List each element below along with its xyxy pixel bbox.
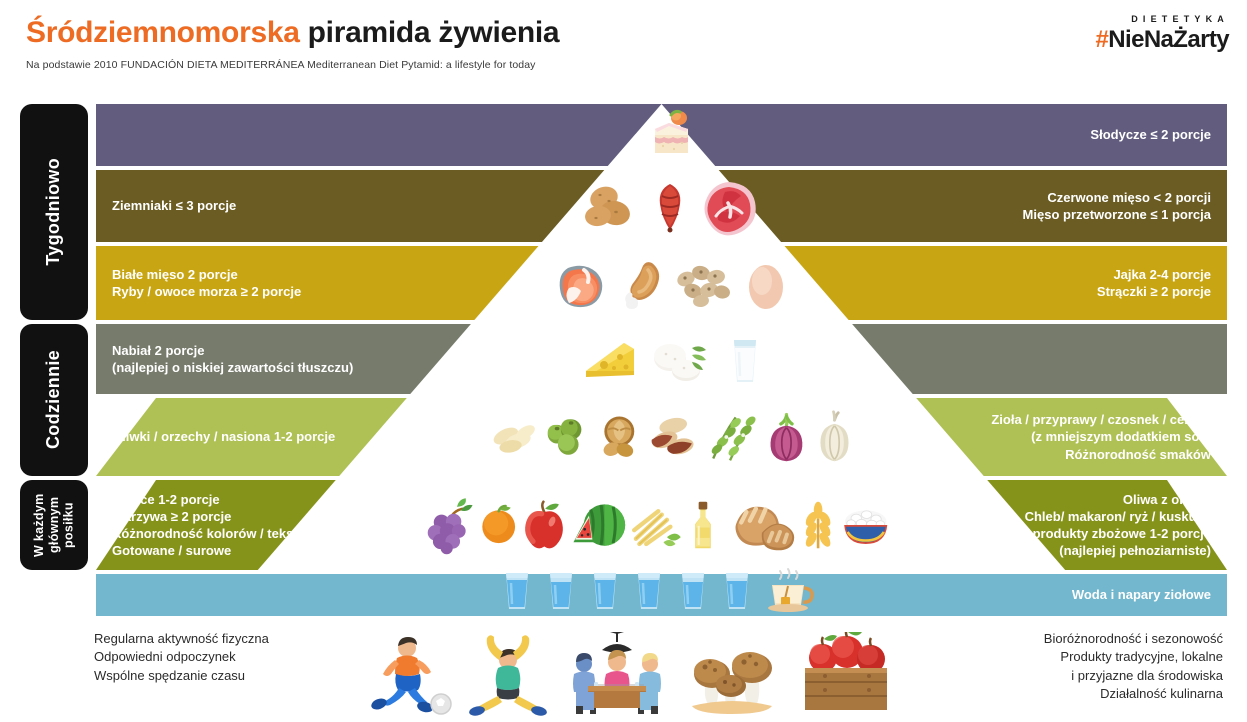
- band-right-text: Woda i napary ziołowe: [1072, 586, 1211, 603]
- pyramid-band-dairy: Nabiał 2 porcje (najlepiej o niskiej zaw…: [96, 324, 1227, 394]
- band-right-text: Słodycze ≤ 2 porcje: [1090, 126, 1211, 143]
- band-left-text: Nabiał 2 porcje (najlepiej o niskiej zaw…: [112, 342, 353, 376]
- footer-right-text: Bioróżnorodność i sezonowość Produkty tr…: [1044, 630, 1223, 704]
- band-left-text: Ziemniaki ≤ 3 porcje: [112, 197, 236, 214]
- footer-left-text: Regularna aktywność fizyczna Odpowiedni …: [94, 630, 269, 685]
- mushrooms-icon: [686, 636, 778, 716]
- frequency-label-every-meal: W każdym głównym posiłku: [20, 480, 88, 570]
- frequency-label-text: Codziennie: [43, 350, 64, 449]
- lifestyle-icons: [360, 624, 900, 716]
- band-right-text: Zioła / przyprawy / czosnek / cebula (z …: [991, 411, 1211, 462]
- soccer-player-icon: [367, 634, 453, 716]
- pyramid-band-red-meat: Ziemniaki ≤ 3 porcje Czerwone mięso < 2 …: [96, 170, 1227, 242]
- stretching-person-icon: [468, 634, 548, 716]
- frequency-label-text: W każdym głównym posiłku: [32, 480, 76, 570]
- logo-word: NieNaŻarty: [1108, 26, 1229, 53]
- band-right-text: Oliwa z oliwek Chleb/ makaron/ ryż / kus…: [1002, 491, 1211, 560]
- logo-main-text: #NieNaŻarty: [1096, 26, 1229, 54]
- pyramid-band-white-meat: Białe mięso 2 porcje Ryby / owoce morza …: [96, 246, 1227, 320]
- page-subtitle: Na podstawie 2010 FUNDACIÓN DIETA MEDITE…: [26, 59, 559, 71]
- pyramid-band-sweets: Słodycze ≤ 2 porcje: [96, 104, 1227, 166]
- food-pyramid: Słodycze ≤ 2 porcje Ziemniaki ≤ 3 porcje…: [20, 104, 1227, 616]
- frequency-label-weekly: Tygodniowo: [20, 104, 88, 320]
- frequency-label-daily: Codziennie: [20, 324, 88, 476]
- band-left-text: Białe mięso 2 porcje Ryby / owoce morza …: [112, 266, 301, 300]
- people-at-table-icon: [562, 628, 672, 716]
- title-rest: piramida żywienia: [308, 16, 560, 49]
- logo-top-text: DIETETYKA: [1096, 14, 1229, 24]
- pyramid-band-water: Woda i napary ziołowe: [96, 574, 1227, 616]
- pyramid-band-fruits-vegetables: Owoce 1-2 porcje Warzywa ≥ 2 porcje Różn…: [96, 480, 1227, 570]
- pyramid-band-olives-nuts: Oliwki / orzechy / nasiona 1-2 porcje Zi…: [96, 398, 1227, 476]
- header: Śródziemnomorska piramida żywienia Na po…: [26, 16, 559, 71]
- band-right-text: Czerwone mięso < 2 porcji Mięso przetwor…: [1023, 189, 1211, 223]
- brand-logo: DIETETYKA #NieNaŻarty: [1096, 14, 1229, 54]
- band-left-text: Owoce 1-2 porcje Warzywa ≥ 2 porcje Różn…: [112, 491, 311, 560]
- footer: Regularna aktywność fizyczna Odpowiedni …: [20, 622, 1227, 718]
- hash-icon: #: [1096, 26, 1109, 53]
- title-highlight: Śródziemnomorska: [26, 16, 300, 49]
- frequency-label-text: Tygodniowo: [43, 158, 64, 266]
- band-left-text: Oliwki / orzechy / nasiona 1-2 porcje: [112, 428, 335, 445]
- page-title: Śródziemnomorska piramida żywienia: [26, 16, 559, 50]
- band-right-text: Jajka 2-4 porcje Strączki ≥ 2 porcje: [1097, 266, 1211, 300]
- apple-crate-icon: [793, 632, 893, 716]
